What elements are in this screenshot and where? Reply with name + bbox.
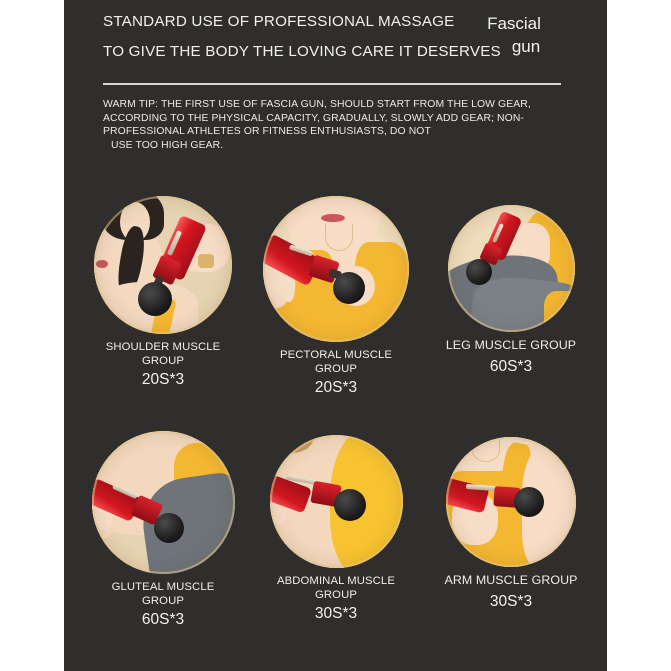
brand-line-2: gun: [463, 35, 573, 58]
label-line-2: GROUP: [250, 588, 422, 602]
label-line-2: GROUP: [77, 354, 249, 368]
headline-block: STANDARD USE OF PROFESSIONAL MASSAGE TO …: [103, 7, 493, 67]
card-pectoral[interactable]: PECTORAL MUSCLE GROUP 20S*3: [250, 196, 422, 397]
label-line-2: GROUP: [77, 594, 249, 608]
card-dose-pectoral: 20S*3: [250, 378, 422, 397]
poster-header: STANDARD USE OF PROFESSIONAL MASSAGE TO …: [64, 0, 607, 78]
product-infographic-poster: STANDARD USE OF PROFESSIONAL MASSAGE TO …: [64, 0, 607, 671]
card-label-pectoral: PECTORAL MUSCLE GROUP: [250, 348, 422, 376]
card-abdominal[interactable]: ABDOMINAL MUSCLE GROUP 30S*3: [250, 431, 422, 623]
photo-leg-muscle: [448, 205, 575, 332]
muscle-group-grid: SHOULDER MUSCLE GROUP 20S*3: [64, 196, 607, 666]
card-dose-abdominal: 30S*3: [250, 604, 422, 623]
card-dose-shoulder: 20S*3: [77, 370, 249, 389]
photo-gluteal-muscle: [92, 431, 235, 574]
warm-tip-text: WARM TIP: THE FIRST USE OF FASCIA GUN, S…: [103, 98, 563, 152]
warm-tip-line-4: USE TOO HIGH GEAR.: [103, 139, 563, 153]
card-label-shoulder: SHOULDER MUSCLE GROUP: [77, 340, 249, 368]
warm-tip-line-3: PROFESSIONAL ATHLETES OR FITNESS ENTHUSI…: [103, 125, 563, 139]
headline-line-2: TO GIVE THE BODY THE LOVING CARE IT DESE…: [103, 37, 493, 67]
label-line-1: SHOULDER MUSCLE: [77, 340, 249, 354]
muscle-group-row-2: GLUTEAL MUSCLE GROUP 60S*3: [64, 431, 607, 666]
card-label-gluteal: GLUTEAL MUSCLE GROUP: [77, 580, 249, 608]
card-leg[interactable]: LEG MUSCLE GROUP 60S*3: [425, 196, 597, 376]
card-dose-arm: 30S*3: [425, 592, 597, 611]
card-shoulder[interactable]: SHOULDER MUSCLE GROUP 20S*3: [77, 196, 249, 389]
card-arm[interactable]: ARM MUSCLE GROUP 30S*3: [425, 431, 597, 611]
label-line-1: LEG MUSCLE GROUP: [425, 338, 597, 352]
card-gluteal[interactable]: GLUTEAL MUSCLE GROUP 60S*3: [77, 431, 249, 629]
card-label-arm: ARM MUSCLE GROUP: [425, 573, 597, 587]
label-line-1: GLUTEAL MUSCLE: [77, 580, 249, 594]
label-line-2: GROUP: [250, 362, 422, 376]
headline-line-1: STANDARD USE OF PROFESSIONAL MASSAGE: [103, 7, 493, 37]
photo-arm-muscle: [446, 437, 576, 567]
label-line-1: ABDOMINAL MUSCLE: [250, 574, 422, 588]
photo-shoulder-muscle: [94, 196, 232, 334]
header-divider: [103, 83, 561, 85]
label-line-1: PECTORAL MUSCLE: [250, 348, 422, 362]
card-label-leg: LEG MUSCLE GROUP: [425, 338, 597, 352]
photo-pectoral-muscle: [263, 196, 409, 342]
warm-tip-line-2: ACCORDING TO THE PHYSICAL CAPACITY, GRAD…: [103, 112, 563, 126]
card-dose-leg: 60S*3: [425, 357, 597, 376]
brand-line-1: Fascial: [463, 12, 573, 35]
brand-name: Fascial gun: [463, 12, 573, 58]
muscle-group-row-1: SHOULDER MUSCLE GROUP 20S*3: [64, 196, 607, 431]
card-label-abdominal: ABDOMINAL MUSCLE GROUP: [250, 574, 422, 602]
card-dose-gluteal: 60S*3: [77, 610, 249, 629]
label-line-1: ARM MUSCLE GROUP: [425, 573, 597, 587]
photo-abdominal-muscle: [270, 435, 403, 568]
warm-tip-line-1: WARM TIP: THE FIRST USE OF FASCIA GUN, S…: [103, 98, 563, 112]
